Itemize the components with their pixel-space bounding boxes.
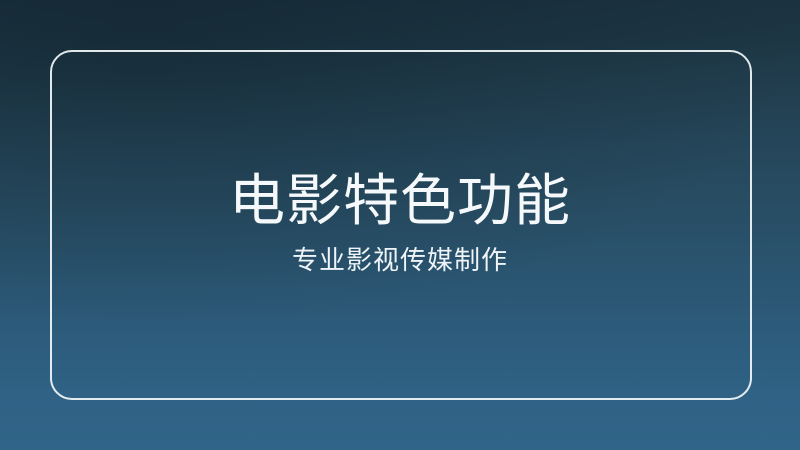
page-subtitle: 专业影视传媒制作: [292, 246, 508, 277]
presentation-slide: 电影特色功能 专业影视传媒制作: [0, 0, 800, 450]
slide-text-block: 电影特色功能 专业影视传媒制作: [0, 0, 800, 450]
page-title: 电影特色功能: [229, 173, 571, 231]
